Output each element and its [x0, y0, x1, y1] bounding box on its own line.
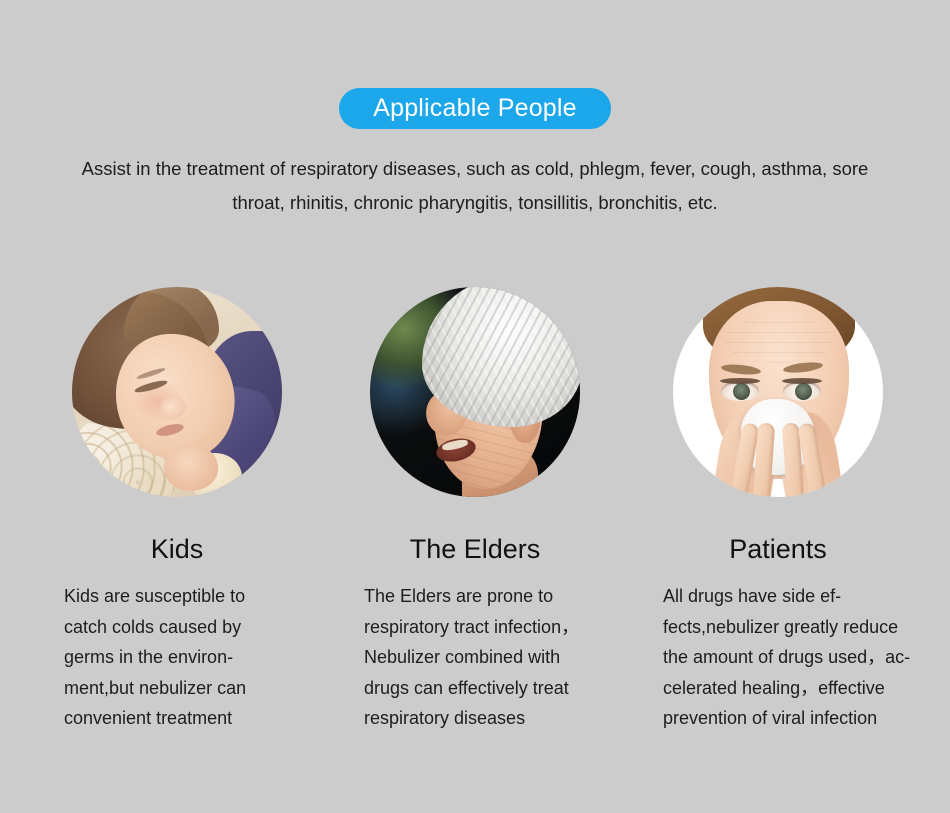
column-title-kids: Kids [27, 533, 327, 565]
woman-left-iris-shape [733, 383, 750, 400]
audience-column-kids: Kids Kids are susceptible to catch colds… [27, 287, 327, 734]
intro-paragraph: Assist in the treatment of respiratory d… [75, 152, 875, 220]
elder-hair-texture [422, 287, 580, 427]
audience-column-elders: The Elders The Elders are prone to respi… [325, 287, 625, 734]
column-body-elders: The Elders are prone to respiratory trac… [325, 581, 625, 734]
header-badge-container: Applicable People [0, 88, 950, 129]
woman-right-lash-shape [782, 378, 822, 384]
audience-columns: Kids Kids are susceptible to catch colds… [0, 287, 950, 747]
woman-left-lash-shape [720, 378, 760, 384]
woman-right-iris-shape [795, 383, 812, 400]
column-title-elders: The Elders [325, 533, 625, 565]
sleeping-child-photo [72, 287, 282, 497]
column-body-kids: Kids are susceptible to catch colds caus… [27, 581, 327, 734]
audience-column-patients: Patients All drugs have side ef- fects,n… [628, 287, 928, 734]
woman-with-tissue-photo [673, 287, 883, 497]
elderly-woman-photo [370, 287, 580, 497]
applicable-people-badge: Applicable People [339, 88, 611, 129]
column-body-patients: All drugs have side ef- fects,nebulizer … [628, 581, 928, 734]
woman-forehead-lines [724, 317, 834, 363]
column-title-patients: Patients [628, 533, 928, 565]
